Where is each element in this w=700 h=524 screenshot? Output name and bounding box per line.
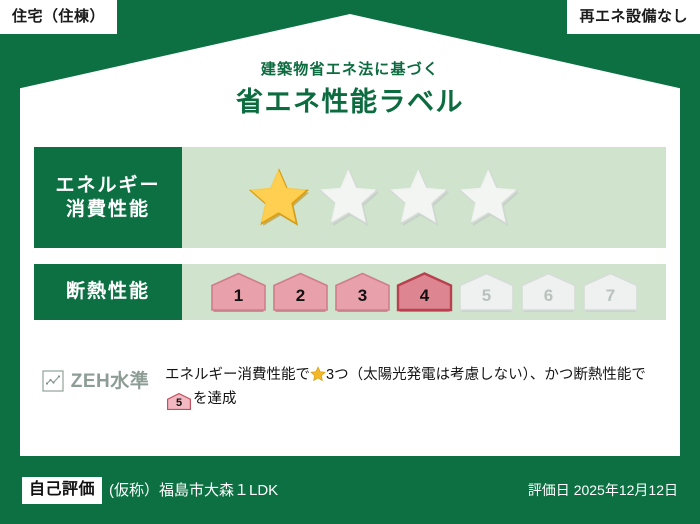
star-icon <box>310 366 326 382</box>
insulation-grade-number: 5 <box>482 287 491 313</box>
insulation-grade-number: 2 <box>296 287 305 313</box>
insulation-grade-number: 3 <box>358 287 367 313</box>
footer-bar: 自己評価 (仮称）福島市大森１LDK 評価日 2025年12月12日 <box>0 462 700 524</box>
insulation-grade-6: 6 <box>520 271 577 313</box>
achievement-text-2: 3つ（太陽光発電 <box>326 367 436 383</box>
renewable-energy-tag: 再エネ設備なし <box>567 0 700 34</box>
zeh-achievement-block: ZEH水準 エネルギー消費性能で 3つ（太陽光発電は考慮しない）、かつ断熱性能で… <box>34 364 666 412</box>
energy-label-line2: 消費性能 <box>66 198 150 222</box>
inline-grade-number: 5 <box>167 393 191 413</box>
insulation-label: 断熱性能 <box>66 280 150 304</box>
zeh-mark-label: ZEH水準 <box>71 372 150 391</box>
star-icon-empty <box>318 167 380 229</box>
insulation-performance-label-box: 断熱性能 <box>34 264 182 320</box>
insulation-performance-value-area: 1234567 <box>182 264 666 320</box>
energy-performance-label-box: エネルギー 消費性能 <box>34 147 182 248</box>
insulation-grade-5: 5 <box>458 271 515 313</box>
inline-grade-badge: 5 <box>167 393 191 410</box>
insulation-grade-number: 7 <box>606 287 615 313</box>
building-name: (仮称）福島市大森１LDK <box>109 483 528 498</box>
star-icon-empty <box>458 167 520 229</box>
star-icon-empty <box>388 167 450 229</box>
insulation-grade-4: 4 <box>396 271 453 313</box>
star-icon-filled <box>248 167 310 229</box>
insulation-grade-number: 1 <box>234 287 243 313</box>
energy-label-line1: エネルギー <box>55 174 160 198</box>
energy-performance-label: 住宅（住棟） 再エネ設備なし 建築物省エネ法に基づく 省エネ性能ラベル エネルギ… <box>0 0 700 524</box>
achievement-text-3: は考慮しない）、かつ断熱性能で <box>436 367 646 383</box>
insulation-grade-scale: 1234567 <box>210 271 639 313</box>
achievement-description: エネルギー消費性能で 3つ（太陽光発電は考慮しない）、かつ断熱性能で 5 を達成 <box>157 364 666 412</box>
achievement-text-4: を達成 <box>193 391 237 407</box>
insulation-grade-number: 6 <box>544 287 553 313</box>
insulation-grade-number: 4 <box>420 287 429 313</box>
star-rating <box>248 167 520 229</box>
energy-performance-row: エネルギー 消費性能 <box>34 147 666 248</box>
zeh-square-icon <box>42 370 64 392</box>
insulation-grade-1: 1 <box>210 271 267 313</box>
building-type-tag: 住宅（住棟） <box>0 0 117 34</box>
insulation-grade-2: 2 <box>272 271 329 313</box>
evaluation-date: 評価日 2025年12月12日 <box>528 483 678 497</box>
insulation-grade-7: 7 <box>582 271 639 313</box>
zeh-mark: ZEH水準 <box>34 364 157 392</box>
evaluation-type-badge: 自己評価 <box>22 477 102 504</box>
insulation-performance-row: 断熱性能 1234567 <box>34 264 666 320</box>
energy-performance-value-area <box>182 147 666 248</box>
achievement-text-1: エネルギー消費性能で <box>165 367 310 383</box>
insulation-grade-3: 3 <box>334 271 391 313</box>
